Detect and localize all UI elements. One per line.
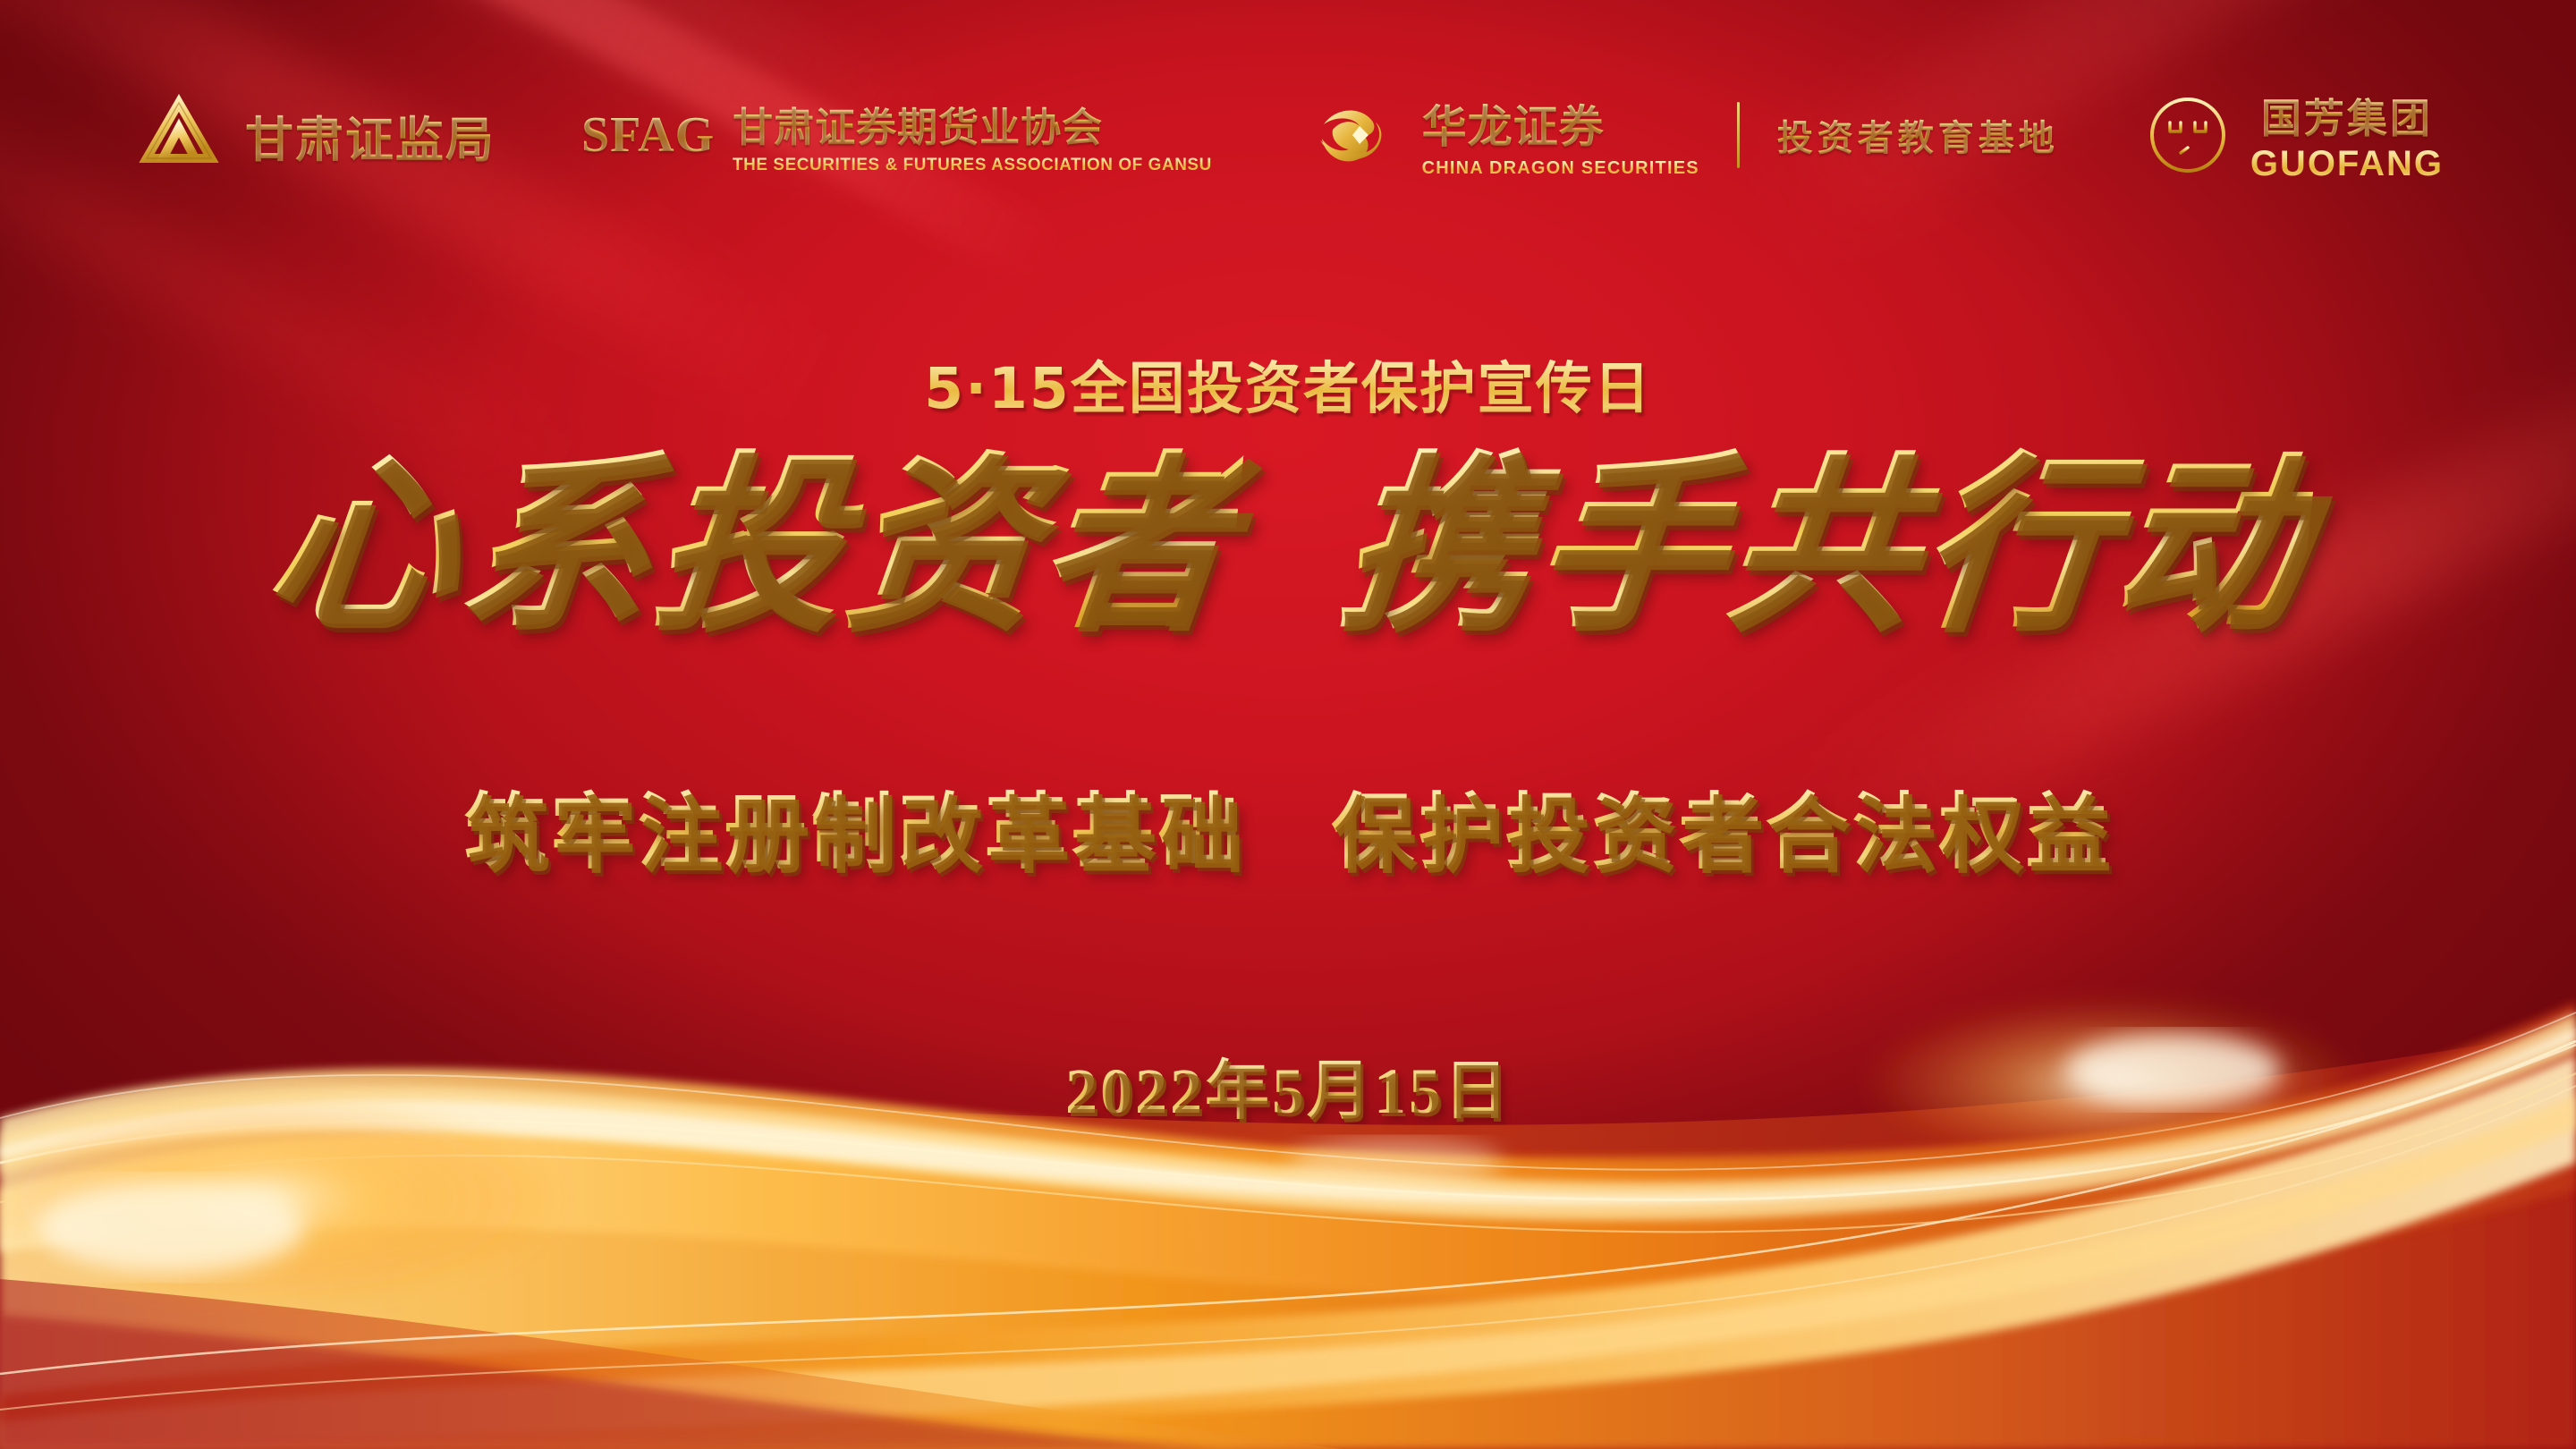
slogan-right: 携手共行动 xyxy=(1331,445,2318,643)
guofang-deer-circle-emblem-icon xyxy=(2145,92,2231,178)
logo-label-investor-education-base: 投资者教育基地 xyxy=(1777,109,2059,161)
slogan-left: 心系投资者 xyxy=(258,445,1244,643)
event-title: 5·15全国投资者保护宣传日 xyxy=(0,343,2576,425)
csrc-triangle-emblem-icon xyxy=(132,89,225,182)
promotional-banner: 甘肃证监局 SFAG 甘肃证券期货业协会 THE SECURITIES & FU… xyxy=(0,0,2576,1449)
sfag-abbreviation: SFAG xyxy=(581,106,715,164)
logo-divider xyxy=(1737,102,1740,168)
logo-gansu-csrc: 甘肃证监局 xyxy=(132,89,496,182)
logo-china-dragon-securities: 华龙证券 CHINA DRAGON SECURITIES 投资者教育基地 xyxy=(1313,90,2059,180)
logo-label-china-dragon-en: CHINA DRAGON SECURITIES xyxy=(1422,158,1699,179)
logo-label-gansu-csrc: 甘肃证监局 xyxy=(245,100,496,171)
logo-guofang-group: 国芳集团 GUOFANG xyxy=(2145,86,2444,184)
partner-logo-row: 甘肃证监局 SFAG 甘肃证券期货业协会 THE SECURITIES & FU… xyxy=(0,77,2576,193)
main-slogan: 心系投资者 携手共行动 xyxy=(0,445,2576,643)
logo-label-sfag-en: THE SECURITIES & FUTURES ASSOCIATION OF … xyxy=(733,155,1212,175)
logo-label-china-dragon-cn: 华龙证券 xyxy=(1422,91,1605,156)
ribbon-waves-icon xyxy=(0,894,2576,1449)
logo-label-guofang-cn: 国芳集团 xyxy=(2261,86,2433,144)
logo-sfag: SFAG 甘肃证券期货业协会 THE SECURITIES & FUTURES … xyxy=(581,95,1227,175)
ribbon-decoration xyxy=(0,894,2576,1449)
china-dragon-circle-emblem-icon xyxy=(1313,90,1402,180)
logo-label-sfag-cn: 甘肃证券期货业协会 xyxy=(733,95,1103,153)
subtitle: 筑牢注册制改革基础 保护投资者合法权益 xyxy=(0,766,2576,885)
logo-label-guofang-en: GUOFANG xyxy=(2250,144,2444,184)
